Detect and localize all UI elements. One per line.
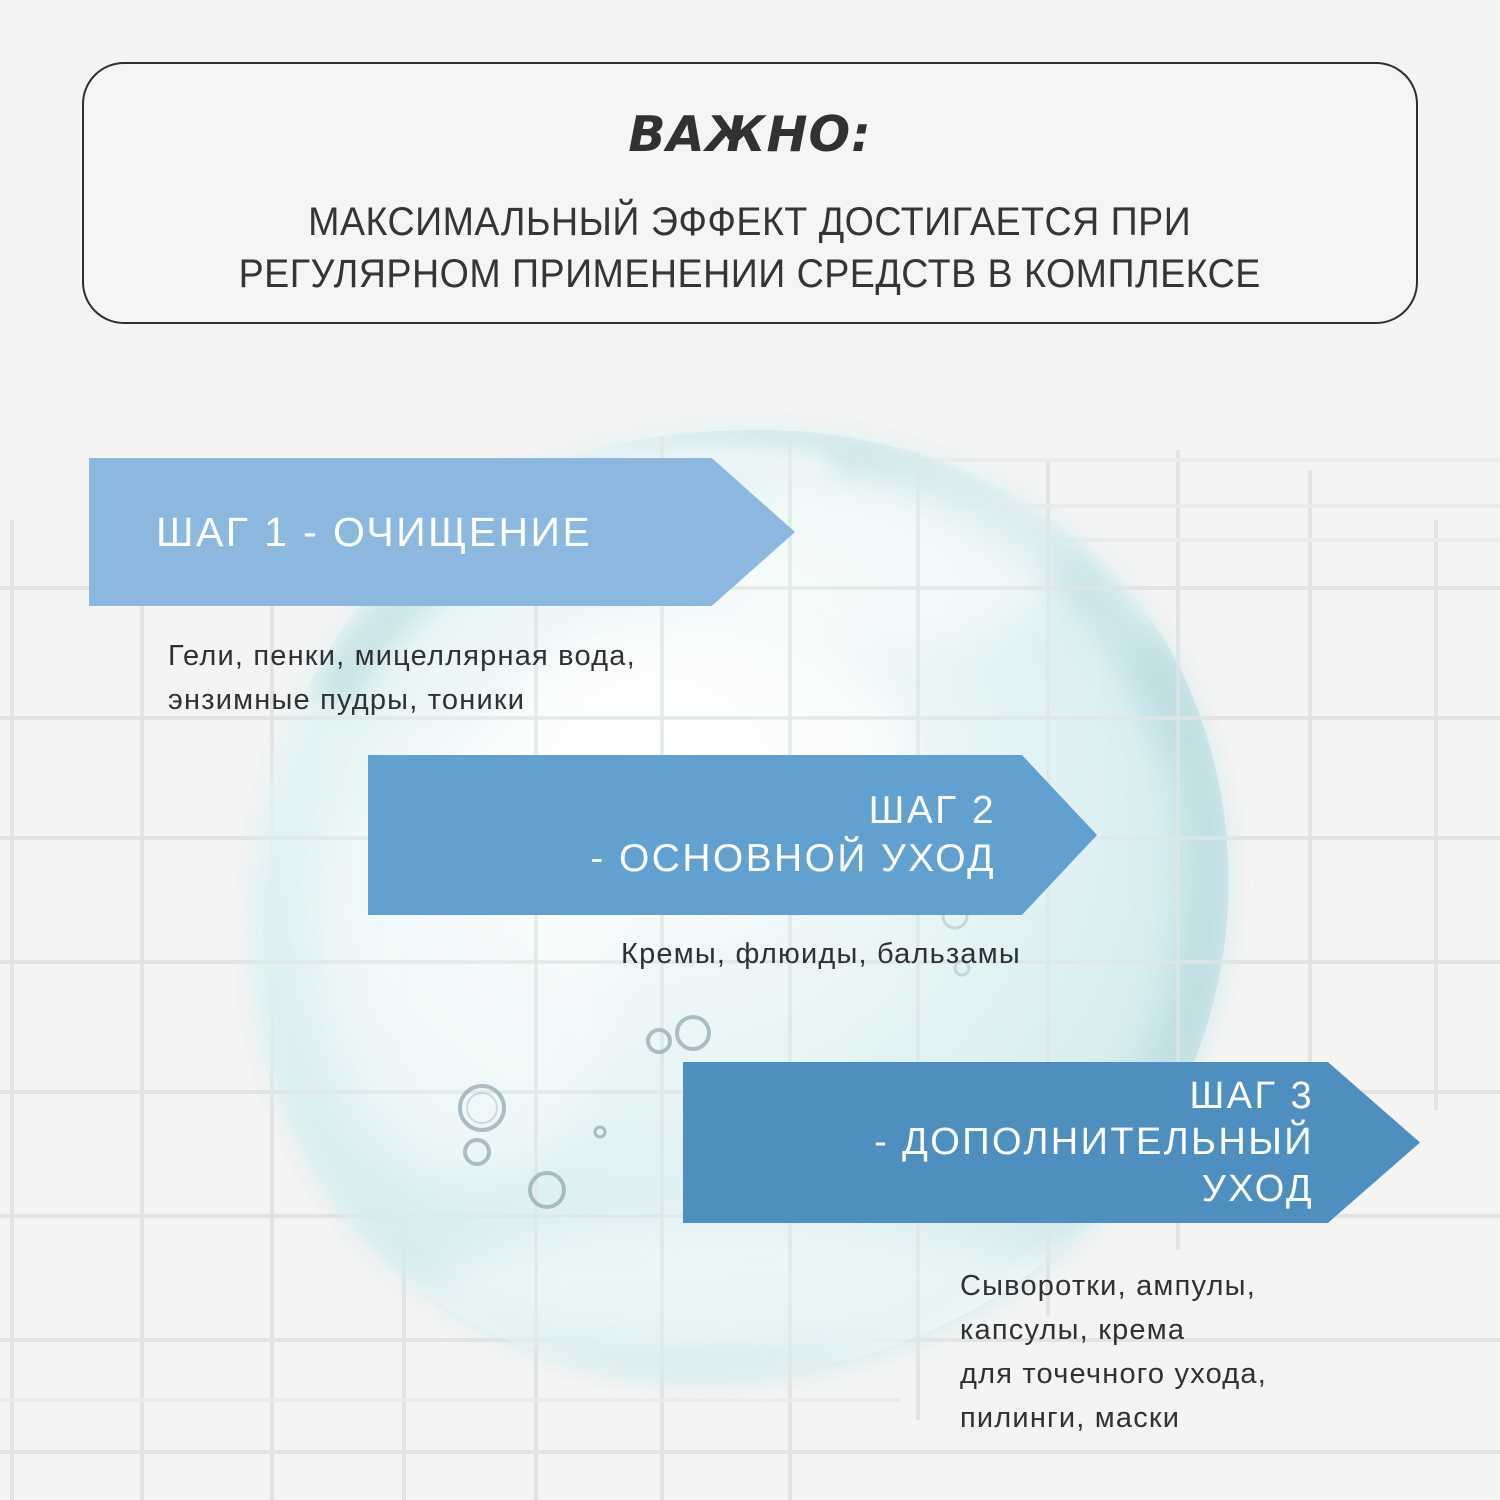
callout-body: МАКСИМАЛЬНЫЙ ЭФФЕКТ ДОСТИГАЕТСЯ ПРИ РЕГУ… <box>239 196 1261 300</box>
step-3-caption-line: пилинги, маски <box>960 1396 1267 1440</box>
step-2-banner-line: - ОСНОВНОЙ УХОД <box>424 835 996 883</box>
step-2-caption: Кремы, флюиды, бальзамы <box>621 932 1021 976</box>
infographic-canvas: ВАЖНО: МАКСИМАЛЬНЫЙ ЭФФЕКТ ДОСТИГАЕТСЯ П… <box>0 0 1500 1500</box>
step-1-caption: Гели, пенки, мицеллярная вода, энзимные … <box>168 634 636 722</box>
step-3-banner: ШАГ 3 - ДОПОЛНИТЕЛЬНЫЙ УХОД <box>683 1062 1420 1223</box>
step-3-banner-line: - ДОПОЛНИТЕЛЬНЫЙ <box>733 1119 1314 1165</box>
step-2-caption-line: Кремы, флюиды, бальзамы <box>621 932 1021 976</box>
step-1-banner: ШАГ 1 - ОЧИЩЕНИЕ <box>89 458 795 606</box>
callout-title: ВАЖНО: <box>628 108 872 162</box>
step-3-caption-line: капсулы, крема <box>960 1308 1267 1352</box>
callout-body-line: МАКСИМАЛЬНЫЙ ЭФФЕКТ ДОСТИГАЕТСЯ ПРИ <box>239 196 1261 248</box>
step-2-banner-text: ШАГ 2 - ОСНОВНОЙ УХОД <box>424 787 996 882</box>
step-3-banner-line: ШАГ 3 <box>733 1073 1314 1119</box>
step-2-banner-line: ШАГ 2 <box>424 787 996 835</box>
step-3-caption-line: Сыворотки, ампулы, <box>960 1264 1267 1308</box>
important-callout-box: ВАЖНО: МАКСИМАЛЬНЫЙ ЭФФЕКТ ДОСТИГАЕТСЯ П… <box>82 62 1418 324</box>
step-1-caption-line: энзимные пудры, тоники <box>168 678 636 722</box>
step-2-banner: ШАГ 2 - ОСНОВНОЙ УХОД <box>368 755 1097 915</box>
step-3-caption: Сыворотки, ампулы, капсулы, крема для то… <box>960 1264 1267 1440</box>
step-3-caption-line: для точечного ухода, <box>960 1352 1267 1396</box>
step-3-banner-text: ШАГ 3 - ДОПОЛНИТЕЛЬНЫЙ УХОД <box>733 1073 1314 1212</box>
step-3-banner-line: УХОД <box>733 1166 1314 1212</box>
step-1-banner-line: ШАГ 1 - ОЧИЩЕНИЕ <box>156 507 695 557</box>
callout-body-line: РЕГУЛЯРНОМ ПРИМЕНЕНИИ СРЕДСТВ В КОМПЛЕКС… <box>239 248 1261 300</box>
step-1-banner-text: ШАГ 1 - ОЧИЩЕНИЕ <box>156 507 695 557</box>
step-1-caption-line: Гели, пенки, мицеллярная вода, <box>168 634 636 678</box>
